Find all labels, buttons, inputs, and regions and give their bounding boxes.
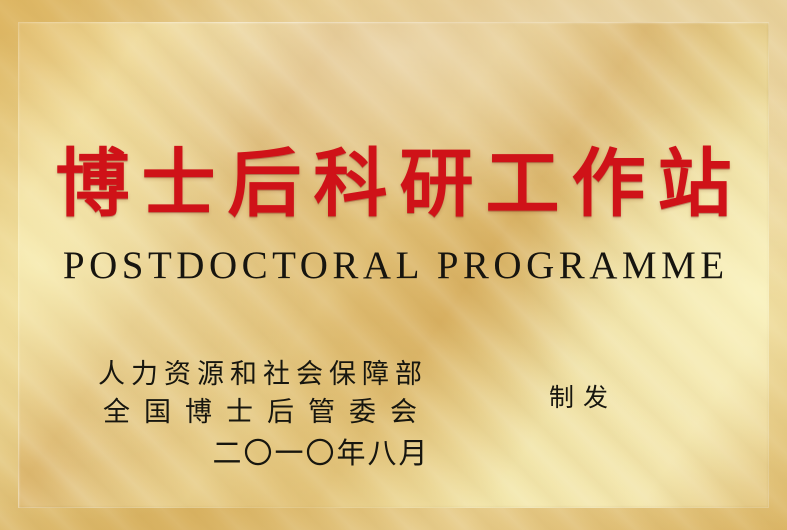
- plaque-title-english: POSTDOCTORAL PROGRAMME: [0, 243, 787, 289]
- issuer-block: 人力资源和社会保障部 全国博士后管委会 制发 二〇一〇年八月: [0, 358, 787, 488]
- plaque-title-chinese: 博士后科研工作站: [0, 142, 787, 226]
- plaque-content: 博士后科研工作站 POSTDOCTORAL PROGRAMME 人力资源和社会保…: [0, 0, 787, 530]
- issuer-made-and-issued-mark: 制发: [540, 382, 617, 414]
- issuer-organization-line-2: 全国博士后管委会: [0, 396, 520, 430]
- award-plaque: 博士后科研工作站 POSTDOCTORAL PROGRAMME 人力资源和社会保…: [0, 0, 787, 530]
- issuer-date: 二〇一〇年八月: [60, 435, 580, 471]
- issuer-organization-line-1: 人力资源和社会保障部: [0, 358, 520, 392]
